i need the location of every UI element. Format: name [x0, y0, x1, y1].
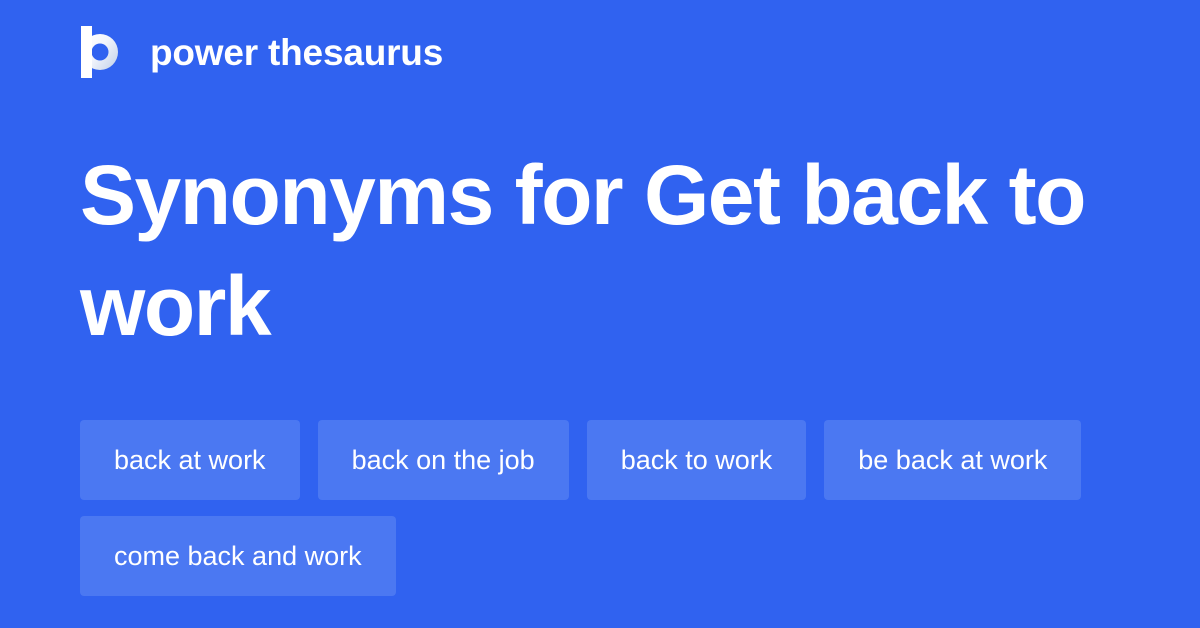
synonym-chip[interactable]: come back and work	[80, 516, 396, 596]
share-card: power thesaurus Synonyms for Get back to…	[0, 0, 1200, 628]
synonym-chip-list: back at work back on the job back to wor…	[80, 420, 1120, 596]
synonym-chip[interactable]: back to work	[587, 420, 807, 500]
power-thesaurus-b-logo-icon	[80, 26, 126, 78]
synonym-chip[interactable]: be back at work	[824, 420, 1081, 500]
page-title: Synonyms for Get back to work	[80, 140, 1100, 362]
brand-name: power thesaurus	[150, 34, 443, 71]
synonym-chip[interactable]: back on the job	[318, 420, 569, 500]
synonym-chip[interactable]: back at work	[80, 420, 300, 500]
brand-header[interactable]: power thesaurus	[80, 26, 443, 78]
